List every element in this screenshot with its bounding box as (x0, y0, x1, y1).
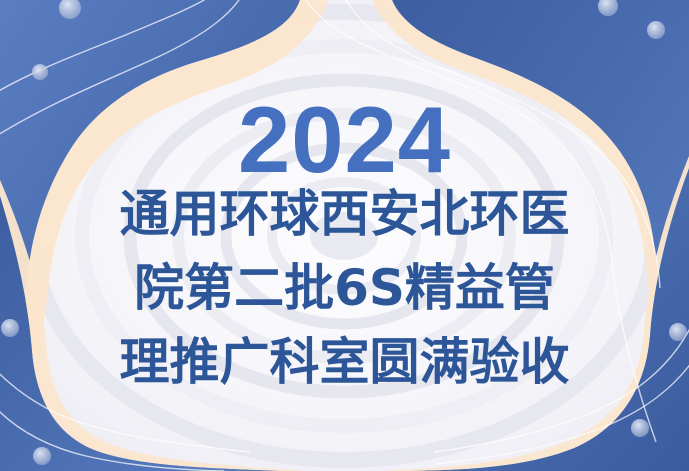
dot-icon (647, 21, 665, 39)
dot-icon (33, 447, 51, 465)
dot-icon (32, 64, 48, 80)
poster-background-art (0, 0, 689, 471)
dot-icon (631, 419, 649, 437)
dot-icon (669, 323, 687, 341)
dot-icon (1, 319, 19, 337)
poster-banner: 2024 通用环球西安北环医 院第二批6S精益管 理推广科室圆满验收 (0, 0, 689, 471)
